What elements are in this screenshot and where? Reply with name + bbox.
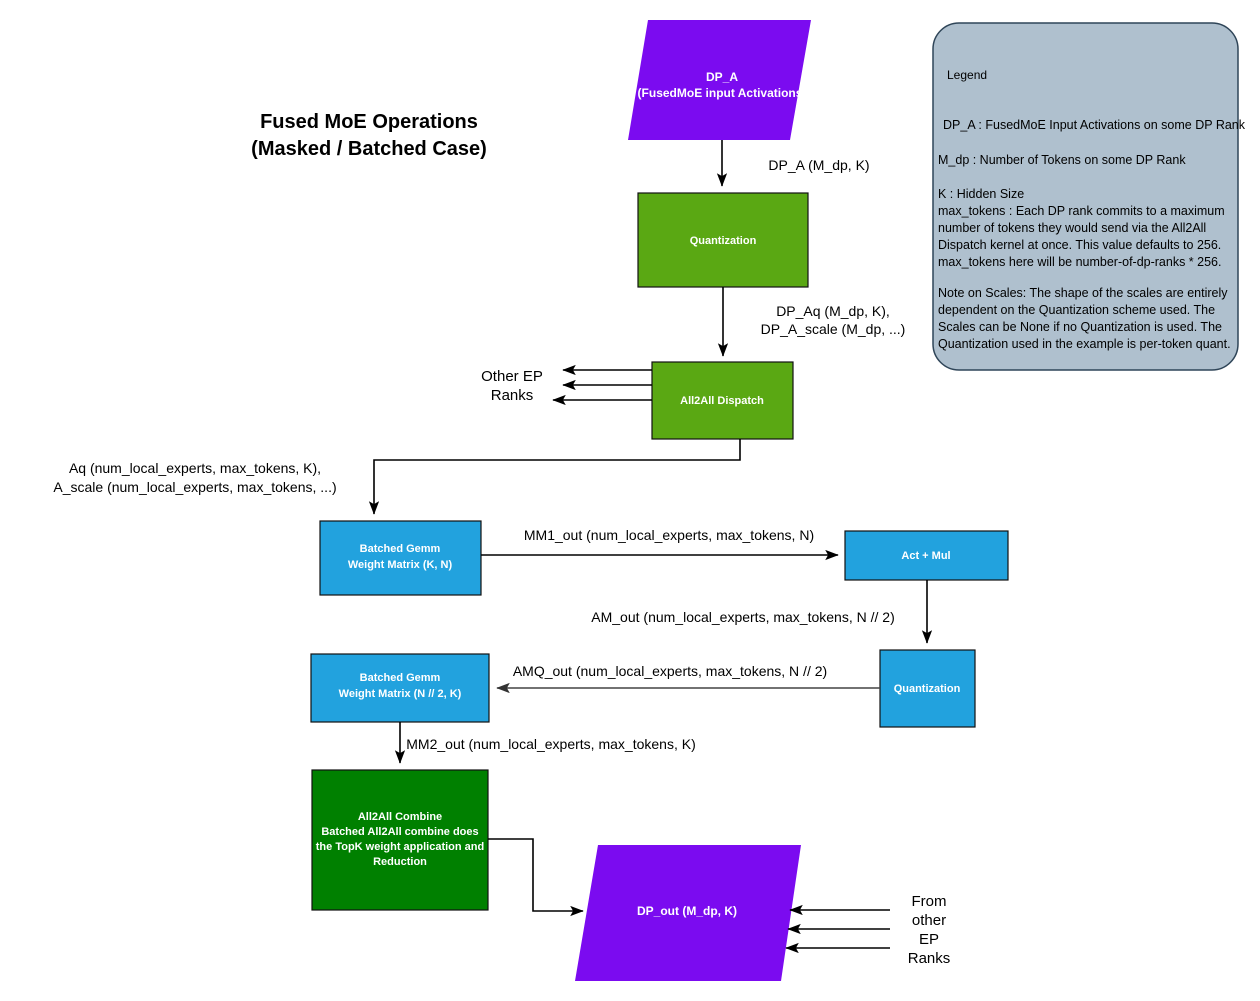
node-dp-a-label-line2: (FusedMoE input Activations)	[638, 86, 807, 100]
node-all2all-dispatch-label: All2All Dispatch	[680, 395, 764, 407]
edge-combine-to-dp-out	[488, 839, 583, 911]
node-quantization-top-label: Quantization	[690, 235, 757, 247]
node-all2all-combine-shape	[312, 770, 488, 910]
label-other-ep-ranks-line2: Ranks	[491, 387, 534, 404]
node-dp-a-label-line1: DP_A	[706, 70, 738, 84]
diagram-canvas: Fused MoE Operations (Masked / Batched C…	[0, 0, 1260, 1001]
node-dp-a[interactable]: DP_A (FusedMoE input Activations)	[628, 20, 811, 140]
node-all2all-combine-label-line1: All2All Combine	[358, 811, 442, 823]
label-from-other-ep-line3: EP	[919, 931, 939, 948]
page-title-line2: (Masked / Batched Case)	[251, 138, 487, 160]
legend-entry-m-dp: M_dp : Number of Tokens on some DP Rank	[938, 153, 1186, 167]
edge-label-dp-aq-line2: DP_A_scale (M_dp, ...)	[761, 321, 906, 337]
legend-max-tokens-l4: max_tokens here will be number-of-dp-ran…	[938, 255, 1221, 269]
node-quantization-mid-label: Quantization	[894, 683, 961, 695]
legend-scales-l1: Note on Scales: The shape of the scales …	[938, 286, 1228, 300]
edge-label-mm1-out: MM1_out (num_local_experts, max_tokens, …	[524, 527, 814, 543]
node-act-mul[interactable]: Act + Mul	[845, 531, 1008, 580]
label-from-other-ep-line2: other	[912, 912, 946, 929]
node-all2all-combine-label-line3: the TopK weight application and	[316, 841, 484, 853]
node-all2all-combine[interactable]: All2All Combine Batched All2All combine …	[312, 770, 488, 910]
edge-label-am-out: AM_out (num_local_experts, max_tokens, N…	[591, 609, 894, 625]
node-dp-out-label: DP_out (M_dp, K)	[637, 904, 737, 918]
edge-label-dp-a: DP_A (M_dp, K)	[768, 157, 869, 173]
node-batched-gemm-2-label-line2: Weight Matrix (N // 2, K)	[339, 688, 462, 700]
node-quantization-mid[interactable]: Quantization	[880, 650, 975, 727]
node-all2all-combine-label-line4: Reduction	[373, 856, 427, 868]
legend-max-tokens-l1: max_tokens : Each DP rank commits to a m…	[938, 204, 1225, 218]
node-act-mul-label: Act + Mul	[901, 550, 950, 562]
legend-scales-l4: Quantization used in the example is per-…	[938, 337, 1231, 351]
node-batched-gemm-1[interactable]: Batched Gemm Weight Matrix (K, N)	[320, 521, 481, 595]
label-from-other-ep-line1: From	[912, 893, 947, 910]
node-batched-gemm-2-label-line1: Batched Gemm	[360, 672, 441, 684]
legend-max-tokens-l2: number of tokens they would send via the…	[938, 221, 1206, 235]
node-batched-gemm-2[interactable]: Batched Gemm Weight Matrix (N // 2, K)	[311, 654, 489, 722]
edge-label-mm2-out: MM2_out (num_local_experts, max_tokens, …	[406, 736, 695, 752]
legend-panel: Legend DP_A : FusedMoE Input Activations…	[933, 23, 1246, 370]
edge-label-aq-line1: Aq (num_local_experts, max_tokens, K),	[69, 460, 321, 476]
node-all2all-dispatch[interactable]: All2All Dispatch	[652, 362, 793, 439]
legend-max-tokens-l3: Dispatch kernel at once. This value defa…	[938, 238, 1221, 252]
label-other-ep-ranks-line1: Other EP	[481, 368, 543, 385]
legend-entry-dp-a: DP_A : FusedMoE Input Activations on som…	[943, 118, 1246, 132]
node-all2all-combine-label-line2: Batched All2All combine does	[321, 826, 478, 838]
node-batched-gemm-1-label-line2: Weight Matrix (K, N)	[348, 559, 453, 571]
node-batched-gemm-1-label-line1: Batched Gemm	[360, 543, 441, 555]
node-quantization-top[interactable]: Quantization	[638, 193, 808, 287]
flowchart-svg: Fused MoE Operations (Masked / Batched C…	[0, 0, 1260, 1001]
edge-label-amq-out: AMQ_out (num_local_experts, max_tokens, …	[513, 663, 827, 679]
edge-dispatch-to-gemm1	[374, 439, 740, 514]
page-title-line1: Fused MoE Operations	[260, 111, 478, 133]
legend-entry-k: K : Hidden Size	[938, 187, 1024, 201]
edge-label-aq-line2: A_scale (num_local_experts, max_tokens, …	[53, 479, 336, 495]
legend-scales-l2: dependent on the Quantization scheme use…	[938, 303, 1215, 317]
legend-heading: Legend	[947, 68, 987, 82]
edge-label-dp-aq-line1: DP_Aq (M_dp, K),	[776, 303, 890, 319]
node-dp-out[interactable]: DP_out (M_dp, K)	[575, 845, 801, 981]
legend-scales-l3: Scales can be None if no Quantization is…	[938, 320, 1222, 334]
label-from-other-ep-line4: Ranks	[908, 950, 951, 967]
node-batched-gemm-1-shape	[320, 521, 481, 595]
